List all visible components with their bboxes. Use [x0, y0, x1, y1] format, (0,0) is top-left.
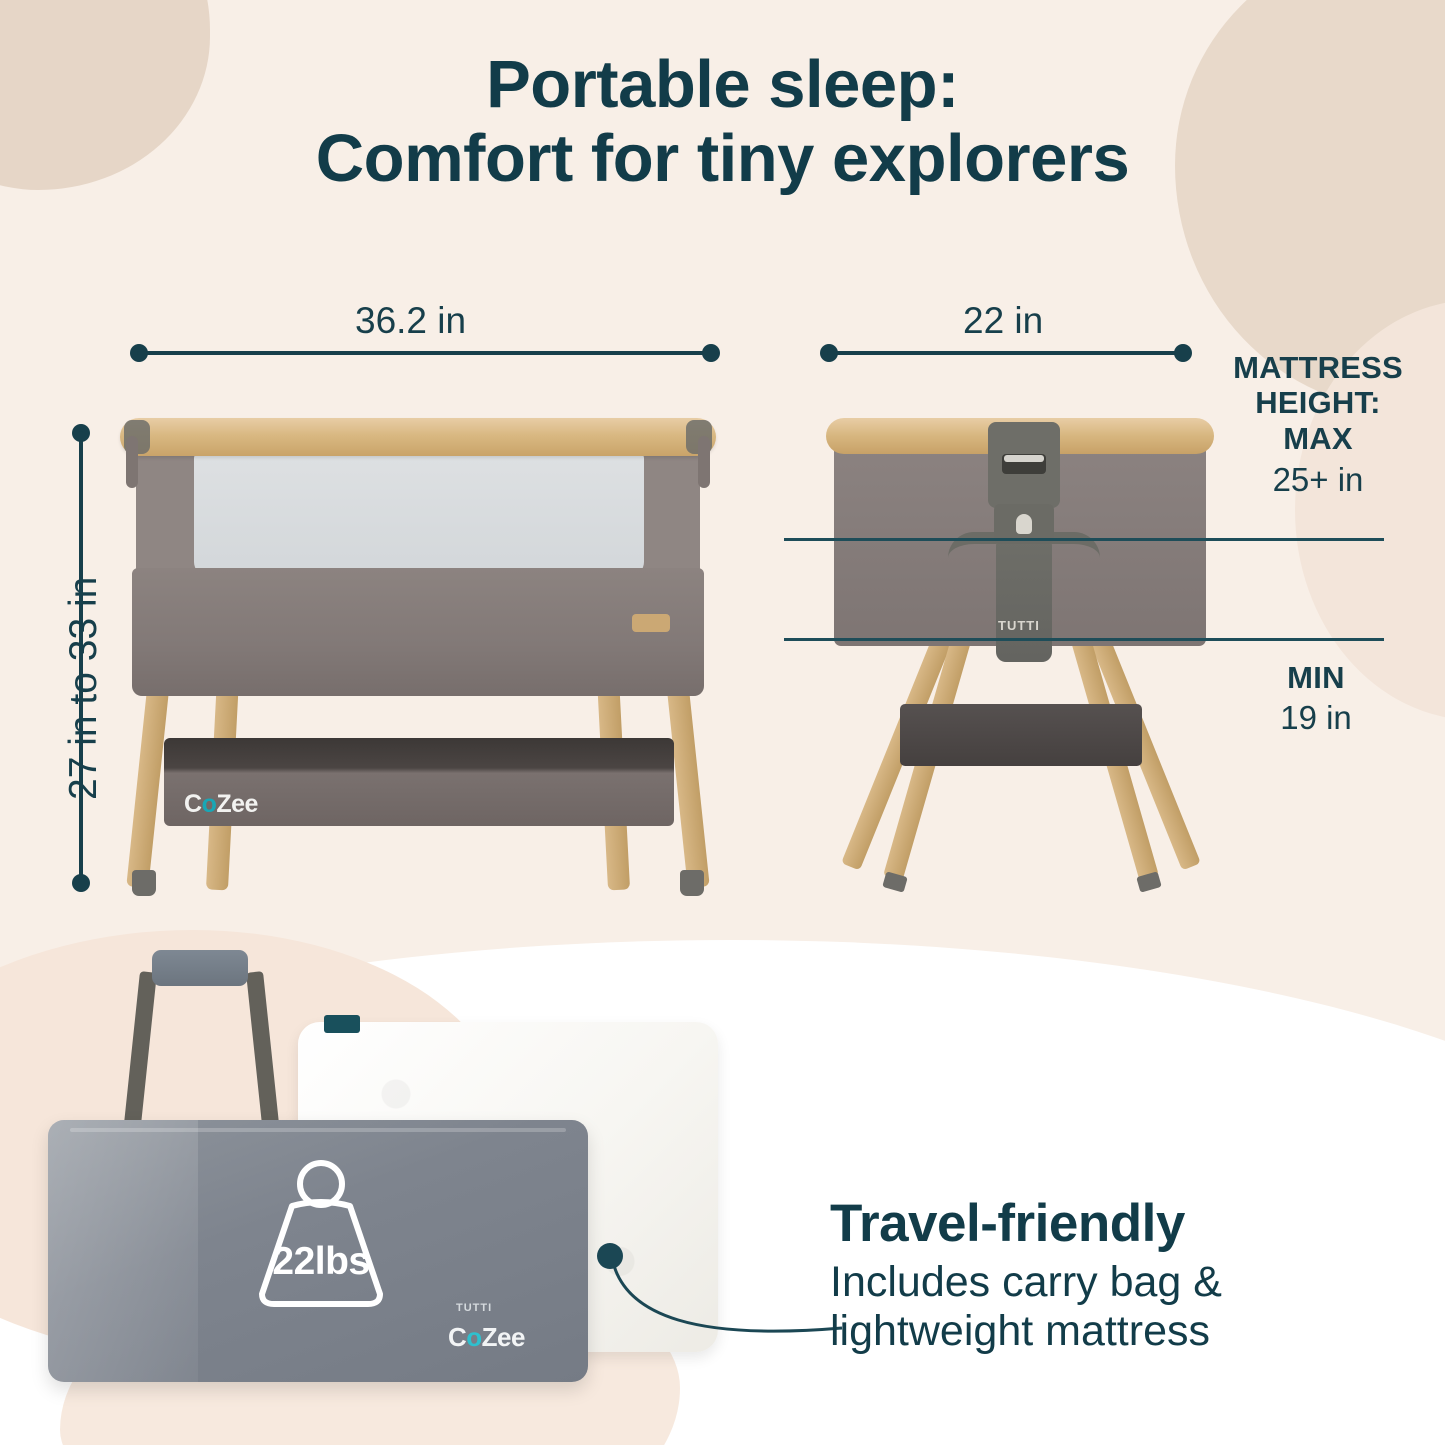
travel-friendly-callout: Travel-friendly Includes carry bag & lig…	[830, 1196, 1430, 1356]
bag-cozee-logo: CoZee	[448, 1322, 525, 1353]
mattress-height-min-label: MIN	[1221, 660, 1411, 696]
logo-c: C	[448, 1322, 466, 1352]
height-adjuster-column	[996, 538, 1052, 662]
logo-c: C	[184, 790, 202, 818]
bassinet-end-view: TUTTI	[820, 418, 1220, 898]
bassinet-side-panel	[638, 450, 700, 580]
bassinet-side-panel	[136, 450, 198, 580]
height-dimension-label: 27 in to 33 in	[62, 577, 106, 800]
headline-line-2: Comfort for tiny explorers	[0, 122, 1445, 196]
tutti-brand-mark: TUTTI	[998, 618, 1040, 633]
dimension-endpoint-right	[1174, 344, 1192, 362]
mattress-brand-tag	[324, 1015, 360, 1033]
mattress-height-max-label: MAX	[1213, 421, 1423, 456]
mattress-height-min-callout: MIN 19 in	[1221, 660, 1411, 737]
travel-callout-line-2: lightweight mattress	[830, 1307, 1430, 1356]
bassinet-foot	[680, 870, 704, 896]
adjuster-badge-icon	[1016, 514, 1032, 534]
bassinet-wood-rail	[120, 418, 716, 456]
depth-dimension-bar	[820, 344, 1192, 362]
mattress-height-min-value: 19 in	[1221, 699, 1411, 737]
bassinet-side-view: CoZee	[108, 418, 728, 898]
bassinet-leather-tag	[632, 614, 670, 632]
logo-zee: Zee	[216, 790, 258, 818]
bassinet-foot	[132, 870, 156, 896]
bassinet-fabric-body	[132, 568, 704, 696]
width-dimension-bar	[130, 344, 720, 362]
weight-value-label: 22lbs	[248, 1240, 394, 1284]
logo-zee: Zee	[482, 1322, 525, 1352]
bassinet-mesh-panel	[194, 454, 644, 576]
mattress-height-max-value: 25+ in	[1213, 460, 1423, 500]
infographic-page: Portable sleep: Comfort for tiny explore…	[0, 0, 1445, 1445]
max-height-indicator-line	[784, 538, 1384, 541]
depth-dimension-label: 22 in	[963, 300, 1043, 342]
dimension-rod	[827, 351, 1185, 355]
width-dimension-label: 36.2 in	[355, 300, 466, 342]
bag-highlight	[48, 1120, 198, 1382]
mattress-height-title-line-1: MATTRESS	[1213, 350, 1423, 385]
travel-callout-title: Travel-friendly	[830, 1196, 1430, 1252]
cozee-logo: CoZee	[184, 790, 258, 819]
zipper-pull-icon	[698, 436, 710, 488]
logo-o: o	[202, 790, 217, 818]
mattress-height-callout: MATTRESS HEIGHT: MAX 25+ in	[1213, 350, 1423, 500]
callout-leader-line	[590, 1210, 850, 1380]
travel-callout-line-1: Includes carry bag &	[830, 1258, 1430, 1307]
dimension-endpoint-right	[702, 344, 720, 362]
zipper-pull-icon	[126, 436, 138, 488]
headline-line-1: Portable sleep:	[486, 47, 959, 122]
bag-tutti-mark: TUTTI	[456, 1302, 492, 1314]
page-title: Portable sleep: Comfort for tiny explore…	[0, 48, 1445, 195]
dimension-endpoint-bottom	[72, 874, 90, 892]
height-adjuster-slot	[1002, 454, 1046, 474]
logo-o: o	[466, 1322, 481, 1352]
min-height-indicator-line	[784, 638, 1384, 641]
bag-zipper	[70, 1128, 566, 1132]
bag-handle-grip	[152, 950, 248, 986]
dimension-rod	[137, 351, 713, 355]
bassinet-storage-shelf	[900, 704, 1142, 766]
mattress-height-title-line-2: HEIGHT:	[1213, 385, 1423, 420]
weight-icon	[248, 1158, 394, 1310]
